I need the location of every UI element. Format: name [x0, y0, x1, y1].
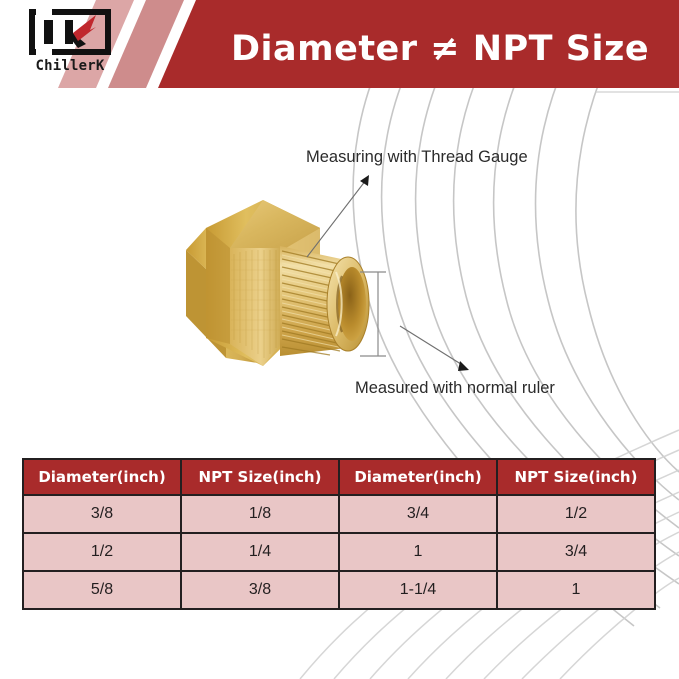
chillerk-ck-mark-icon [22, 8, 118, 58]
brass-fitting-illustration [168, 188, 408, 373]
brand-logo: ChillerK [22, 8, 118, 80]
table-cell: 1/4 [181, 533, 339, 571]
annotation-ruler-label: Measured with normal ruler [355, 379, 555, 398]
page-title: Diameter ≠ NPT Size [210, 26, 670, 72]
arrowhead-thread-gauge [360, 175, 369, 186]
table-row: 3/8 1/8 3/4 1/2 [23, 495, 655, 533]
table-row: 5/8 3/8 1-1/4 1 [23, 571, 655, 609]
table-row: 1/2 1/4 1 3/4 [23, 533, 655, 571]
table-cell: 3/8 [181, 571, 339, 609]
infographic-page: Diameter ≠ NPT Size ChillerK [0, 0, 679, 679]
table-cell: 5/8 [23, 571, 181, 609]
table-cell: 1 [497, 571, 655, 609]
annotation-thread-gauge-label: Measuring with Thread Gauge [306, 148, 528, 167]
npt-size-table: Diameter(inch) NPT Size(inch) Diameter(i… [22, 458, 656, 610]
npt-size-table-wrapper: Diameter(inch) NPT Size(inch) Diameter(i… [22, 458, 656, 610]
table-cell: 3/8 [23, 495, 181, 533]
table-cell: 1 [339, 533, 497, 571]
table-header-cell: NPT Size(inch) [181, 459, 339, 495]
table-cell: 1/2 [23, 533, 181, 571]
arrowhead-ruler [458, 361, 469, 371]
table-cell: 1/2 [497, 495, 655, 533]
table-cell: 3/4 [497, 533, 655, 571]
table-cell: 1/8 [181, 495, 339, 533]
table-cell: 1-1/4 [339, 571, 497, 609]
brand-name: ChillerK [22, 58, 118, 74]
table-header-cell: Diameter(inch) [339, 459, 497, 495]
table-header-row: Diameter(inch) NPT Size(inch) Diameter(i… [23, 459, 655, 495]
table-cell: 3/4 [339, 495, 497, 533]
table-header-cell: NPT Size(inch) [497, 459, 655, 495]
table-header-cell: Diameter(inch) [23, 459, 181, 495]
leader-line-ruler [400, 326, 464, 366]
